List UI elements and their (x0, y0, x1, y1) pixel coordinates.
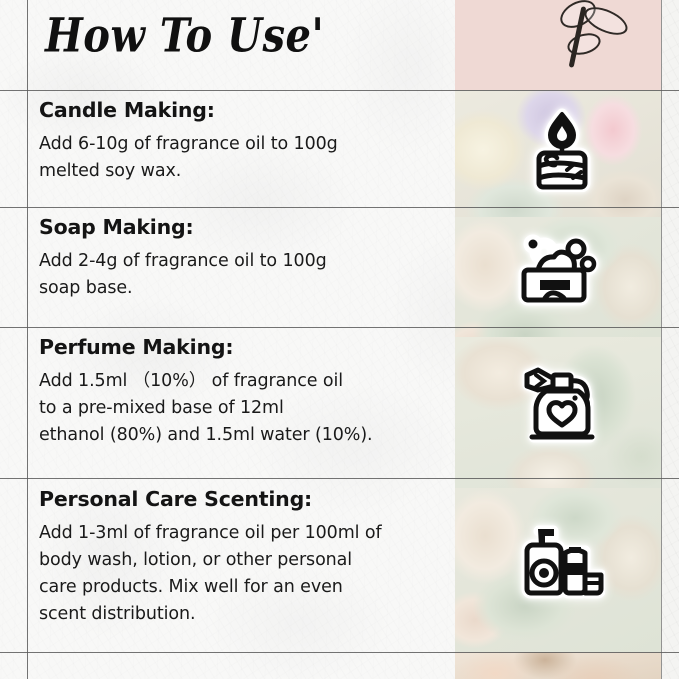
right-margin-strip (661, 0, 679, 679)
perfume-bottle-icon (512, 356, 612, 448)
body-line: Add 2-4g of fragrance oil to 100g (39, 248, 441, 275)
body-line: ethanol (80%) and 1.5ml water (10%). (39, 422, 441, 449)
right-vertical-rule (661, 0, 662, 679)
section-heading: Personal Care Scenting: (39, 487, 441, 511)
how-to-use-infographic: How To Use' Candle Making: Add 6-10g of … (0, 0, 679, 679)
section-perfume-making: Perfume Making: Add 1.5ml （10%） of fragr… (27, 335, 455, 449)
body-line: soap base. (39, 275, 441, 302)
section-body: Add 1-3ml of fragrance oil per 100ml of … (39, 520, 441, 628)
personal-care-products-icon (512, 516, 612, 608)
section-personal-care-scenting: Personal Care Scenting: Add 1-3ml of fra… (27, 487, 455, 628)
body-line: care products. Mix well for an even (39, 574, 441, 601)
divider-after-title (0, 90, 679, 91)
divider-after-care (0, 652, 679, 653)
section-body: Add 1.5ml （10%） of fragrance oil to a pr… (39, 368, 441, 449)
divider-after-candle (0, 207, 679, 208)
header: How To Use' (27, 0, 455, 90)
photo-band-bottom (455, 652, 661, 679)
body-line: melted soy wax. (39, 158, 441, 185)
candle-icon (512, 104, 612, 196)
divider-after-soap (0, 327, 679, 328)
body-line: scent distribution. (39, 601, 441, 628)
body-line: body wash, lotion, or other personal (39, 547, 441, 574)
section-heading: Perfume Making: (39, 335, 441, 359)
body-line: Add 6-10g of fragrance oil to 100g (39, 131, 441, 158)
page-title: How To Use' (45, 8, 324, 63)
body-line: to a pre-mixed base of 12ml (39, 395, 441, 422)
section-body: Add 2-4g of fragrance oil to 100g soap b… (39, 248, 441, 302)
section-body: Add 6-10g of fragrance oil to 100g melte… (39, 131, 441, 185)
body-line: Add 1-3ml of fragrance oil per 100ml of (39, 520, 441, 547)
soap-bar-icon (512, 226, 612, 318)
section-soap-making: Soap Making: Add 2-4g of fragrance oil t… (27, 215, 455, 302)
section-candle-making: Candle Making: Add 6-10g of fragrance oi… (27, 98, 455, 185)
photo-band-roses (455, 0, 661, 90)
divider-after-perfume (0, 478, 679, 479)
body-line: Add 1.5ml （10%） of fragrance oil (39, 368, 441, 395)
section-heading: Candle Making: (39, 98, 441, 122)
section-heading: Soap Making: (39, 215, 441, 239)
